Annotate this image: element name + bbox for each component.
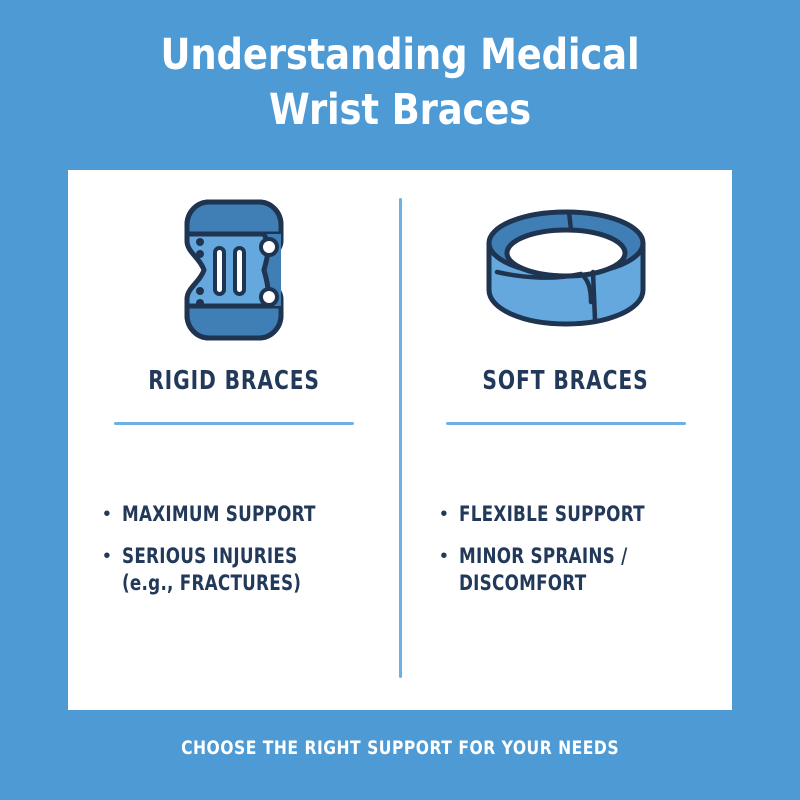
rigid-icon-wrap [68,170,400,370]
list-item: • SERIOUS INJURIES (e.g., FRACTURES) [103,543,364,596]
list-item: • FLEXIBLE SUPPORT [440,501,691,527]
bullet-list-rigid: • MAXIMUM SUPPORT • SERIOUS INJURIES (e.… [103,501,364,612]
soft-icon-wrap [400,170,732,370]
page-title-line-1: Understanding Medical [56,28,744,83]
list-item: • MINOR SPRAINS / DISCOMFORT [440,543,691,596]
comparison-card: RIGID BRACES • MAXIMUM SUPPORT • SERIOUS… [68,170,732,710]
bullet-text: MINOR SPRAINS / DISCOMFORT [459,543,627,596]
bullet-text: MAXIMUM SUPPORT [122,501,316,527]
infographic-page: { "colors": { "background": "#4e9ad4", "… [0,0,800,800]
bullet-dot-icon: • [103,501,110,527]
soft-wrist-brace-icon [481,206,651,334]
list-item: • MAXIMUM SUPPORT [103,501,364,527]
bullet-dot-icon: • [440,501,447,527]
column-heading-soft: SOFT BRACES [483,366,649,396]
heading-rule-rigid [114,422,354,425]
column-heading-rigid: RIGID BRACES [148,366,320,396]
footer-tagline-text: CHOOSE THE RIGHT SUPPORT FOR YOUR NEEDS [181,737,619,759]
heading-rule-soft [446,422,686,425]
column-rigid-braces: RIGID BRACES • MAXIMUM SUPPORT • SERIOUS… [68,170,400,710]
footer-tagline: CHOOSE THE RIGHT SUPPORT FOR YOUR NEEDS [0,737,800,759]
bullet-dot-icon: • [103,543,110,569]
page-title: Understanding Medical Wrist Braces [0,28,800,138]
bullet-dot-icon: • [440,543,447,569]
rigid-wrist-brace-icon [171,196,297,344]
bullet-list-soft: • FLEXIBLE SUPPORT • MINOR SPRAINS / DIS… [440,501,691,612]
page-title-line-2: Wrist Braces [56,83,744,138]
column-soft-braces: SOFT BRACES • FLEXIBLE SUPPORT • MINOR S… [400,170,732,710]
bullet-text: SERIOUS INJURIES (e.g., FRACTURES) [122,543,301,596]
bullet-text: FLEXIBLE SUPPORT [459,501,645,527]
columns-container: RIGID BRACES • MAXIMUM SUPPORT • SERIOUS… [68,170,732,710]
